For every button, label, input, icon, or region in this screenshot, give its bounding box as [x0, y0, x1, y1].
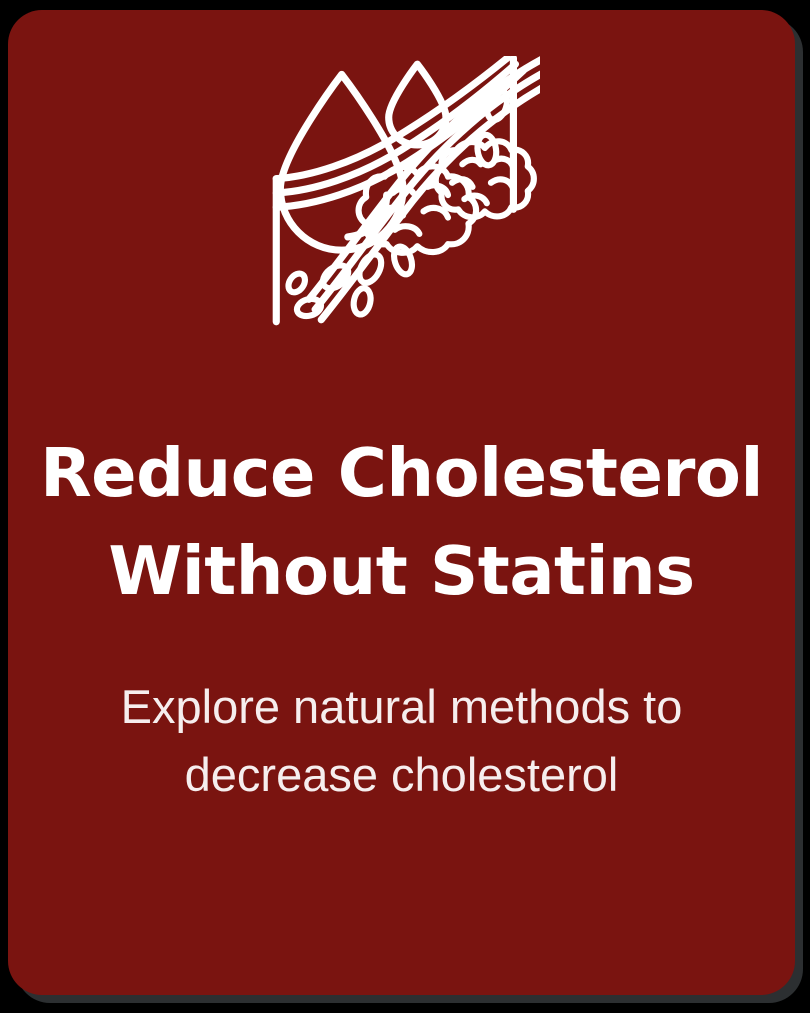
artery-plaque-blood-drop-icon [264, 56, 540, 332]
cholesterol-info-card[interactable]: Reduce Cholesterol Without Statins Explo… [8, 10, 795, 995]
small-blood-drop [388, 64, 445, 145]
artery-wall-upper-inner [321, 87, 540, 320]
page-subtitle: Explore natural methods to decrease chol… [8, 673, 795, 808]
page-root: Reduce Cholesterol Without Statins Explo… [0, 0, 810, 1013]
page-title: Reduce Cholesterol Without Statins [8, 424, 795, 621]
